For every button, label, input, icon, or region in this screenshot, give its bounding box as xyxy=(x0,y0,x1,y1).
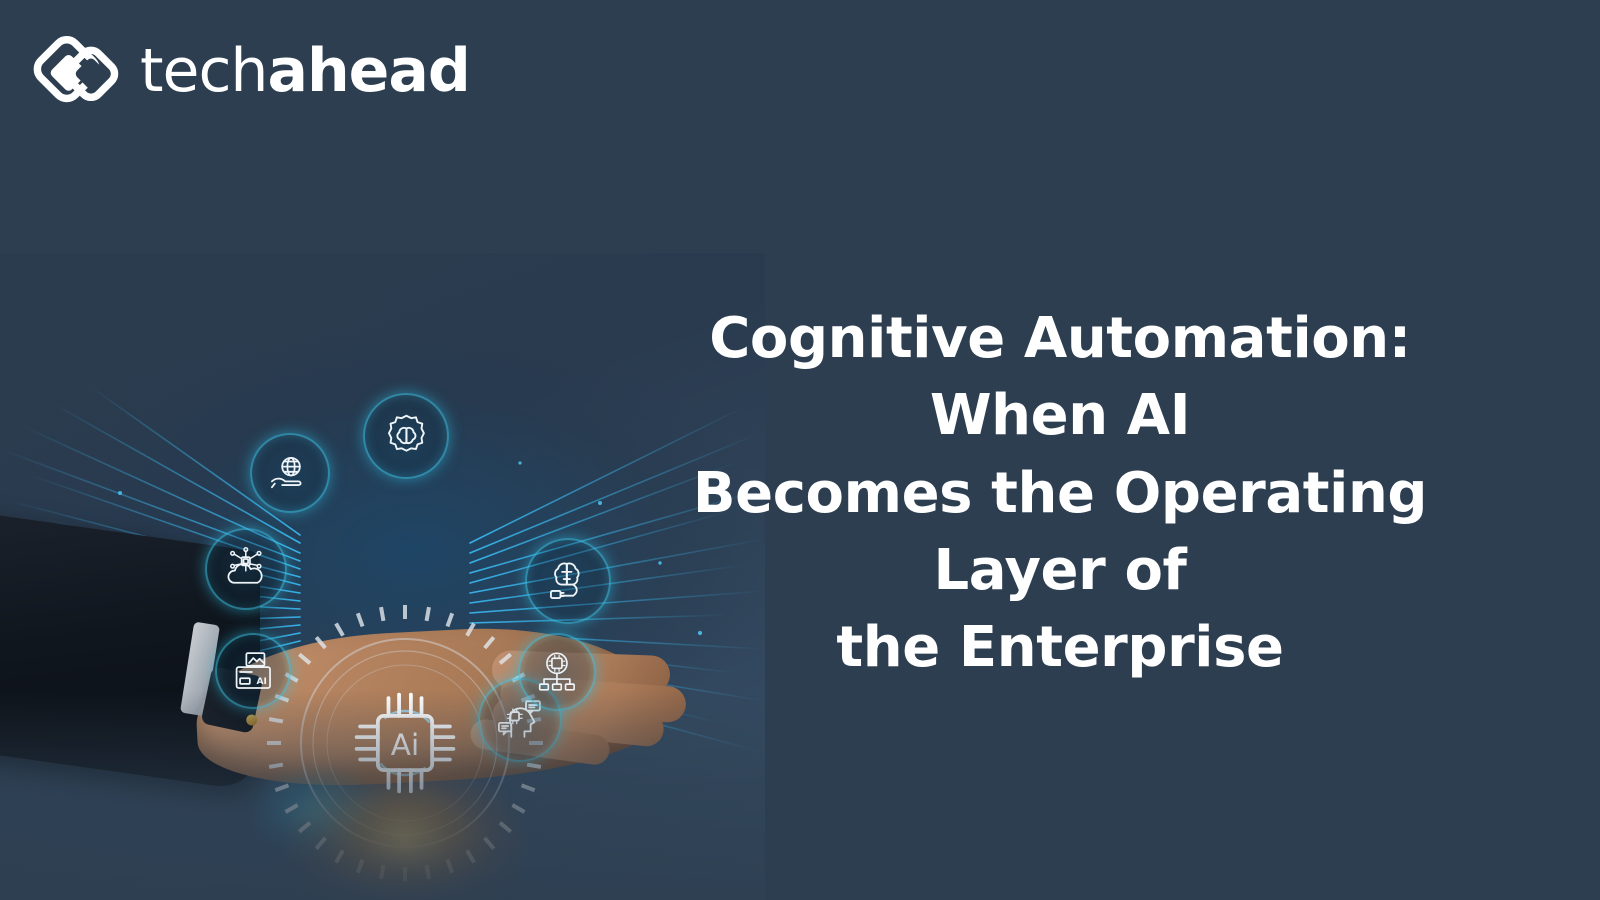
globe-in-hand-icon xyxy=(250,433,330,513)
brain-plug-icon xyxy=(525,538,611,624)
brand-name-light: tech xyxy=(140,36,267,106)
svg-text:AI: AI xyxy=(256,677,266,687)
cloud-neural-network-icon xyxy=(205,528,287,610)
chip-hierarchy-icon xyxy=(518,633,596,711)
techahead-diamond-logo-icon xyxy=(30,28,124,114)
headline-line-1: Cognitive Automation: When AI xyxy=(709,306,1411,448)
headline-text: Cognitive Automation: When AI Becomes th… xyxy=(620,300,1500,686)
brand-logo[interactable]: techahead xyxy=(30,28,470,114)
brand-name-bold: ahead xyxy=(267,36,469,106)
ai-microchip-icon: Ai xyxy=(346,684,464,802)
headline-line-3: the Enterprise xyxy=(836,615,1283,680)
brand-wordmark: techahead xyxy=(140,41,470,101)
headline-line-2: Becomes the Operating Layer of xyxy=(693,461,1427,603)
ai-document-icon: AI xyxy=(215,633,291,709)
ai-chip-label: Ai xyxy=(391,728,419,762)
page-title: Cognitive Automation: When AI Becomes th… xyxy=(620,300,1500,686)
brain-in-gear-icon xyxy=(363,393,449,479)
blog-hero-banner: techahead xyxy=(0,0,1600,900)
